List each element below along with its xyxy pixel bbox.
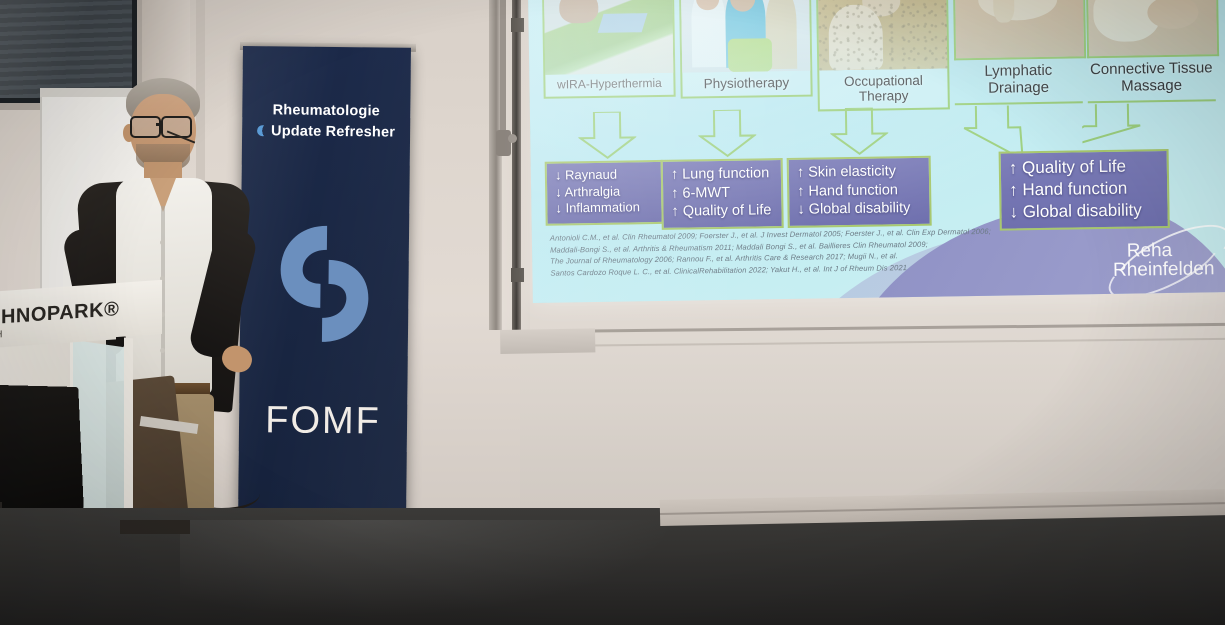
therapy-card: Physiotherapy	[679, 0, 813, 99]
outcome-box-physiotherapy: ↑ Lung function ↑ 6-MWT ↑ Quality of Lif…	[661, 158, 784, 230]
projection-wash	[1088, 0, 1217, 56]
therapy-caption: Physiotherapy	[682, 71, 810, 97]
outcome-line: ↑ Skin elasticity	[797, 162, 921, 182]
chair-base	[120, 520, 190, 534]
arrow-down-occupational-therapy	[830, 107, 889, 156]
therapy-card: Occupational Therapy	[816, 0, 950, 112]
projection-wash	[955, 0, 1084, 58]
therapy-card: Lymphatic Drainage	[953, 0, 1083, 105]
arrow-down-physiotherapy	[698, 109, 757, 158]
reha-rheinfelden-logo: Reha Rheinfelden	[1113, 240, 1215, 280]
therapy-card: wIRA-Hyperthermia	[542, 0, 676, 99]
therapy-caption-line1: Occupational	[844, 73, 923, 89]
outcome-line: ↑ Hand function	[1009, 177, 1159, 201]
projection-wash	[818, 0, 947, 70]
arrow-down-wira	[578, 111, 637, 160]
eyeglasses-bridge	[156, 123, 163, 126]
therapy-caption-line2: Massage	[1121, 77, 1182, 95]
banner-title-line2-wrap: Update Refresher	[242, 121, 410, 144]
outcome-box-occupational-therapy: ↑ Skin elasticity ↑ Hand function ↓ Glob…	[787, 156, 932, 228]
projector-mount-knob	[508, 134, 517, 143]
projection-wash	[544, 0, 673, 75]
shirt-button	[160, 240, 165, 245]
outcome-box-massage: ↑ Quality of Life ↑ Hand function ↓ Glob…	[999, 149, 1170, 231]
fomf-logo-mark	[276, 221, 373, 351]
outcome-line: ↓ Raynaud	[555, 166, 653, 184]
presentation-photo-scene: wIRA-Hyperthermia Physiotherapy	[0, 0, 1225, 625]
crescent-moon-icon	[257, 125, 268, 136]
rail-clip-top	[511, 18, 524, 32]
occupational-therapy-photo	[818, 0, 947, 70]
fomf-brand-name: FOMF	[239, 399, 407, 444]
therapy-caption: wIRA-Hyperthermia	[545, 73, 673, 97]
physiotherapy-photo	[681, 0, 810, 73]
banner-title-line2: Update Refresher	[271, 123, 395, 140]
outcome-box-wira: ↓ Raynaud ↓ Arthralgia ↓ Inflammation	[545, 160, 664, 226]
outcome-line: ↓ Global disability	[797, 199, 921, 219]
outcome-line: ↑ 6-MWT	[671, 183, 773, 203]
banner-title-line1: Rheumatologie	[242, 100, 410, 123]
connective-tissue-massage-photo	[1086, 0, 1219, 58]
projector-mount-pole	[500, 0, 506, 145]
lymphatic-drainage-photo	[953, 0, 1086, 60]
venue-sign: CHNOPARK® CH	[0, 291, 116, 348]
projection-wash	[681, 0, 810, 73]
therapy-caption: Lymphatic Drainage	[954, 58, 1083, 103]
projected-slide: wIRA-Hyperthermia Physiotherapy	[528, 0, 1225, 303]
eyeglasses-icon	[130, 116, 161, 138]
outcome-line: ↓ Inflammation	[555, 199, 653, 217]
rail-clip-bottom	[511, 268, 524, 282]
therapy-card-row: wIRA-Hyperthermia Physiotherapy	[542, 0, 1216, 116]
outcome-line: ↑ Hand function	[797, 180, 921, 200]
outcome-line: ↓ Global disability	[1009, 199, 1159, 223]
outcome-line: ↑ Quality of Life	[1009, 155, 1159, 179]
outcome-line: ↓ Arthralgia	[555, 183, 653, 201]
therapy-caption-line1: Connective Tissue	[1090, 59, 1213, 78]
slide-references: Antonioli C.M., et al. Clin Rheumatol 20…	[550, 225, 1071, 279]
therapy-caption-line2: Therapy	[859, 88, 909, 104]
confidence-monitor	[0, 384, 84, 523]
outcome-line: ↑ Lung function	[671, 164, 773, 184]
wira-hyperthermia-photo	[544, 0, 673, 75]
therapy-caption: Occupational Therapy	[819, 68, 948, 109]
fomf-rollup-banner: Rheumatologie Update Refresher FOMF www.…	[238, 46, 411, 520]
whiteboard-tray	[500, 328, 595, 354]
therapy-caption: Connective Tissue Massage	[1087, 56, 1216, 101]
floor-reflection	[180, 520, 700, 625]
therapy-card: Connective Tissue Massage	[1086, 0, 1216, 103]
projector-mount-head	[496, 130, 511, 156]
banner-title: Rheumatologie Update Refresher	[242, 100, 410, 144]
outcome-line: ↑ Quality of Life	[671, 201, 773, 221]
